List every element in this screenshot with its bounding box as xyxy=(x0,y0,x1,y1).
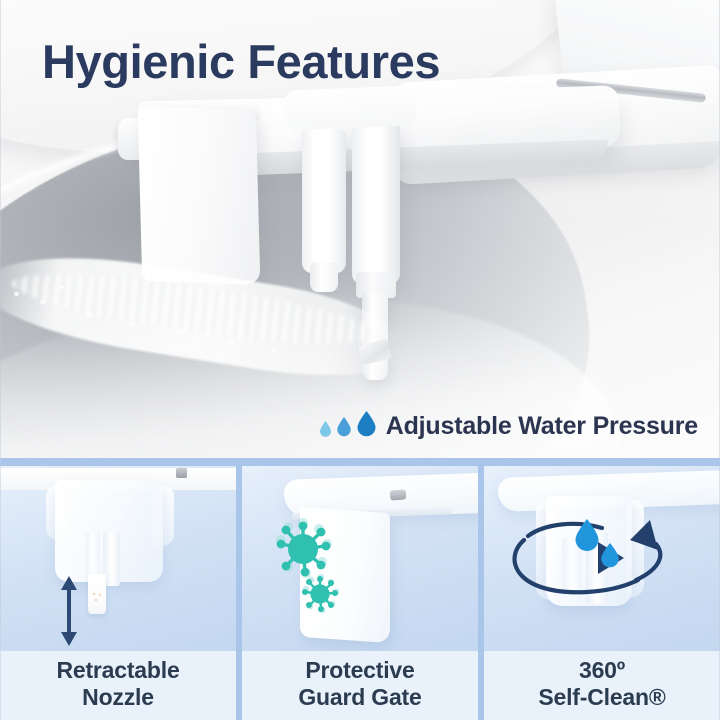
wash-nozzle xyxy=(302,128,346,273)
panel-art-retractable-nozzle xyxy=(0,466,236,651)
seat-knob xyxy=(390,489,407,500)
wash-nozzle-tip xyxy=(310,262,338,292)
feature-panel-360-self-clean[interactable]: 360º Self-Clean® xyxy=(484,466,720,720)
panel-caption-retractable-nozzle: Retractable Nozzle xyxy=(0,651,236,720)
water-speck xyxy=(228,340,234,344)
panel-caption-360-self-clean: 360º Self-Clean® xyxy=(484,651,720,720)
up-down-arrow-icon xyxy=(56,574,82,651)
water-speck xyxy=(14,292,19,296)
adjustable-water-pressure-label: Adjustable Water Pressure xyxy=(319,410,698,442)
caption-line-2: Nozzle xyxy=(82,684,154,710)
caption-text: Protective Guard Gate xyxy=(298,657,421,711)
water-speck xyxy=(86,312,93,317)
caption-line-1: Retractable xyxy=(56,657,179,683)
feature-panel-protective-guard-gate[interactable]: Protective Guard Gate xyxy=(242,466,478,720)
product-feature-card: Hygienic Features xyxy=(0,0,720,720)
caption-line-2: Guard Gate xyxy=(298,684,421,710)
hero-image: Hygienic Features xyxy=(0,0,720,458)
water-speck xyxy=(60,286,64,289)
rear-nozzle xyxy=(352,122,400,284)
water-drop-large-icon xyxy=(356,410,377,442)
caption-text: Retractable Nozzle xyxy=(56,657,179,711)
water-drop-large-icon xyxy=(574,518,600,557)
water-speck xyxy=(130,322,135,326)
water-speck xyxy=(272,348,277,352)
page-title: Hygienic Features xyxy=(42,34,440,89)
panel-caption-protective-guard-gate: Protective Guard Gate xyxy=(242,651,478,720)
caption-line-1: 360º xyxy=(579,657,625,683)
water-drop-medium-icon xyxy=(336,416,352,442)
feature-panels: Retractable Nozzle xyxy=(0,458,720,720)
panel-art-protective-guard-gate xyxy=(242,466,478,651)
water-drop-small-icon xyxy=(319,420,332,442)
nozzle-spray-holes xyxy=(92,592,103,603)
nozzle-inner xyxy=(86,532,100,578)
water-speck xyxy=(40,300,46,304)
bidet-bar-cap xyxy=(285,86,416,131)
seat-knob xyxy=(176,468,187,478)
caption-line-2: Self-Clean® xyxy=(538,684,665,710)
germ-icon xyxy=(300,574,340,619)
feature-panel-retractable-nozzle[interactable]: Retractable Nozzle xyxy=(0,466,236,720)
guard-gate-panel xyxy=(138,106,261,284)
water-drop-medium-icon xyxy=(600,542,620,573)
water-pressure-drops xyxy=(319,410,377,442)
water-speck xyxy=(178,330,184,334)
caption-text: 360º Self-Clean® xyxy=(538,657,665,711)
panel-art-360-self-clean xyxy=(484,466,720,651)
caption-line-1: Protective xyxy=(305,657,414,683)
water-pressure-text: Adjustable Water Pressure xyxy=(386,412,698,441)
